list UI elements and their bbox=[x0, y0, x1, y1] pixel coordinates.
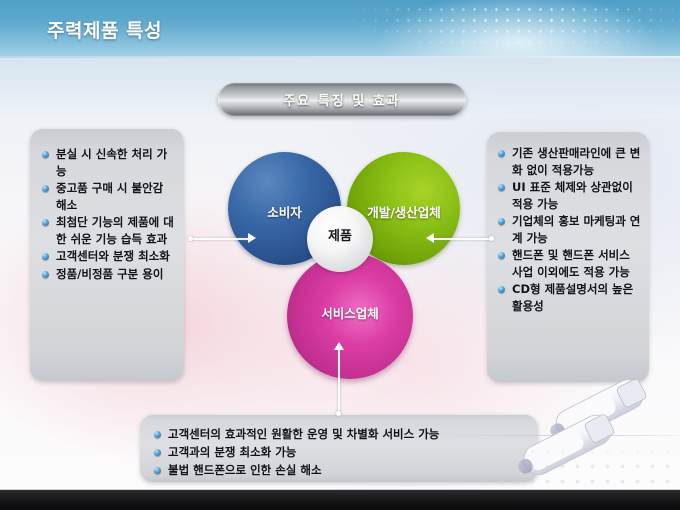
list-item: 불법 핸드폰으로 인한 손실 해소 bbox=[154, 462, 528, 479]
connector-right-dot bbox=[489, 236, 494, 241]
venn-label-producer: 개발/생산업체 bbox=[341, 202, 467, 221]
slide: 주력제품 특성 주요 특징 및 효과 분실 시 신속한 처리 가능 중고품 구매… bbox=[0, 0, 680, 510]
list-item: CD형 제품설명서의 높은 활용성 bbox=[498, 281, 641, 314]
connector-right-line bbox=[432, 238, 492, 240]
right-benefits-list: 기존 생산판매라인에 큰 변화 없이 적용가능 UI 표준 체제와 상관없이 적… bbox=[498, 145, 641, 314]
list-item: 고객과의 분쟁 최소화 가능 bbox=[154, 444, 528, 461]
header-underline bbox=[0, 56, 680, 58]
right-benefits-box: 기존 생산판매라인에 큰 변화 없이 적용가능 UI 표준 체제와 상관없이 적… bbox=[487, 131, 649, 382]
arrow-right-icon bbox=[248, 233, 256, 243]
left-benefits-box: 분실 시 신속한 처리 가능 중고품 구매 시 불안감 해소 최첨단 기능의 제… bbox=[30, 128, 184, 381]
bottom-benefits-list: 고객센터의 효과적인 원활한 운영 및 차별화 서비스 가능 고객과의 분쟁 최… bbox=[154, 426, 528, 479]
venn-label-consumer: 소비자 bbox=[228, 202, 341, 221]
bottom-benefits-box: 고객센터의 효과적인 원활한 운영 및 차별화 서비스 가능 고객과의 분쟁 최… bbox=[140, 414, 538, 482]
subtitle-pill: 주요 특징 및 효과 bbox=[218, 83, 466, 116]
connector-left-line bbox=[190, 238, 250, 240]
phone-devices-illustration bbox=[505, 375, 680, 490]
list-item: 고객센터와 분쟁 최소화 bbox=[42, 248, 174, 265]
arrow-up-icon bbox=[334, 342, 344, 350]
list-item: 핸드폰 및 핸드폰 서비스 사업 이외에도 적용 가능 bbox=[498, 247, 641, 280]
left-benefits-list: 분실 시 신속한 처리 가능 중고품 구매 시 불안감 해소 최첨단 기능의 제… bbox=[42, 146, 174, 282]
venn-label-product: 제품 bbox=[307, 225, 373, 244]
venn-diagram: 소비자 개발/생산업체 서비스업체 제품 bbox=[210, 145, 475, 390]
list-item: 분실 시 신속한 처리 가능 bbox=[42, 146, 174, 179]
list-item: 기업체의 홍보 마케팅과 연계 가능 bbox=[498, 213, 641, 246]
decor-dot-pattern bbox=[480, 444, 680, 490]
venn-label-service: 서비스업체 bbox=[287, 303, 413, 322]
arrow-left-icon bbox=[426, 233, 434, 243]
connector-bottom-line bbox=[338, 348, 340, 414]
footer-band bbox=[0, 490, 680, 510]
subtitle-label: 주요 특징 및 효과 bbox=[283, 90, 400, 109]
connector-left-dot bbox=[188, 236, 193, 241]
page-title: 주력제품 특성 bbox=[47, 16, 162, 43]
list-item: 기존 생산판매라인에 큰 변화 없이 적용가능 bbox=[498, 145, 641, 178]
header-dot-pattern bbox=[260, 0, 680, 44]
list-item: 중고품 구매 시 불안감 해소 bbox=[42, 180, 174, 213]
connector-bottom-dot bbox=[336, 411, 341, 416]
list-item: UI 표준 체제와 상관없이 적용 가능 bbox=[498, 179, 641, 212]
list-item: 최첨단 기능의 제품에 대한 쉬운 기능 습득 효과 bbox=[42, 214, 174, 247]
list-item: 정품/비정품 구분 용이 bbox=[42, 266, 174, 283]
